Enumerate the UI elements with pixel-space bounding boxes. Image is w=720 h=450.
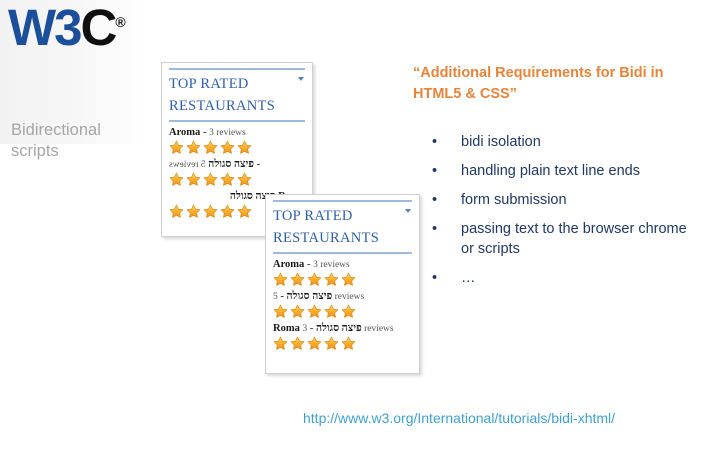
- star-icon: [307, 336, 322, 351]
- star-icon: [273, 304, 288, 319]
- requirements-list: • bidi isolation • handling plain text l…: [428, 133, 703, 298]
- star-icon: [220, 204, 235, 219]
- star-icon: [169, 204, 184, 219]
- star-icon: [220, 140, 235, 155]
- star-rating: [273, 336, 412, 352]
- review-count: 3 reviews: [313, 260, 350, 270]
- star-icon: [290, 304, 305, 319]
- star-icon: [169, 172, 184, 187]
- star-icon: [290, 336, 305, 351]
- star-icon: [186, 204, 201, 219]
- restaurant-card-correct: TOP RATED RESTAURANTS Aroma - 3 reviews …: [265, 194, 420, 374]
- registered-trademark-icon: ®: [115, 14, 125, 30]
- bullet-icon: •: [432, 220, 437, 239]
- list-item-label: form submission: [461, 192, 567, 208]
- list-item: Aroma - 3 reviews: [273, 258, 412, 288]
- card-header: TOP RATED RESTAURANTS: [273, 200, 412, 254]
- w3c-logo: W3C®: [8, 2, 126, 53]
- star-icon: [324, 304, 339, 319]
- restaurant-name: Aroma: [169, 127, 200, 138]
- restaurant-row: פיצה סגולה - 5 reviews: [273, 290, 412, 304]
- page-subtitle: Bidirectional scripts: [11, 120, 146, 162]
- list-item: 5 reviews פיצה סגולה -: [169, 158, 305, 188]
- list-item: • bidi isolation: [428, 133, 703, 152]
- chevron-down-icon[interactable]: [405, 209, 411, 213]
- star-icon: [237, 204, 252, 219]
- list-item: • passing text to the browser chrome or …: [428, 220, 703, 258]
- star-rating: [273, 272, 412, 288]
- logo-text-c: C: [81, 0, 116, 56]
- list-item-label: handling plain text line ends: [461, 163, 640, 179]
- list-item-label: bidi isolation: [461, 134, 541, 150]
- list-item: Aroma - 3 reviews: [169, 126, 305, 156]
- star-rating: [169, 140, 305, 156]
- list-item: • form submission: [428, 191, 703, 210]
- star-icon: [273, 272, 288, 287]
- logo-text-w3: W3: [8, 0, 81, 56]
- bullet-icon: •: [432, 191, 437, 210]
- review-count: 3 reviews: [209, 128, 246, 138]
- separator: -: [257, 159, 261, 170]
- section-heading: “Additional Requirements for Bidi in HTM…: [413, 63, 678, 104]
- star-icon: [186, 172, 201, 187]
- card-title-line1: TOP RATED: [273, 205, 412, 227]
- star-icon: [341, 304, 356, 319]
- star-icon: [220, 172, 235, 187]
- list-item-label: passing text to the browser chrome or sc…: [461, 221, 687, 256]
- restaurant-row: 5 reviews פיצה סגולה -: [169, 158, 305, 172]
- bullet-icon: •: [432, 162, 437, 181]
- list-item: Roma פיצה סגולה - 3 reviews: [273, 322, 412, 352]
- restaurant-name: Roma פיצה סגולה: [273, 323, 362, 334]
- star-rating: [273, 304, 412, 320]
- list-item: • …: [428, 269, 703, 288]
- review-count: 5 reviews: [169, 159, 206, 171]
- restaurant-row: Roma פיצה סגולה - 3 reviews: [273, 322, 412, 336]
- star-icon: [324, 336, 339, 351]
- list-item: פיצה סגולה - 5 reviews: [273, 290, 412, 320]
- restaurant-row: Aroma - 3 reviews: [169, 126, 305, 140]
- separator: -: [310, 323, 314, 334]
- restaurant-name: פיצה סגולה: [208, 159, 254, 170]
- star-icon: [307, 304, 322, 319]
- star-icon: [324, 272, 339, 287]
- star-rating: [169, 172, 305, 188]
- star-icon: [237, 172, 252, 187]
- star-icon: [307, 272, 322, 287]
- separator: -: [280, 291, 284, 302]
- tutorial-link[interactable]: http://www.w3.org/International/tutorial…: [303, 410, 615, 426]
- restaurant-name: Aroma: [273, 259, 304, 270]
- star-icon: [169, 140, 184, 155]
- card-title-line2: RESTAURANTS: [273, 227, 412, 249]
- bullet-icon: •: [432, 269, 437, 288]
- separator: -: [307, 259, 311, 270]
- card-title-line2: RESTAURANTS: [169, 95, 305, 117]
- bullet-icon: •: [432, 133, 437, 152]
- chevron-down-icon[interactable]: [298, 77, 304, 81]
- star-icon: [203, 204, 218, 219]
- star-icon: [203, 172, 218, 187]
- list-item-label: …: [461, 270, 476, 286]
- star-icon: [341, 336, 356, 351]
- star-icon: [290, 272, 305, 287]
- star-icon: [341, 272, 356, 287]
- restaurant-row: Aroma - 3 reviews: [273, 258, 412, 272]
- star-icon: [273, 336, 288, 351]
- list-item: • handling plain text line ends: [428, 162, 703, 181]
- star-icon: [237, 140, 252, 155]
- separator: -: [203, 127, 207, 138]
- card-header: TOP RATED RESTAURANTS: [169, 68, 305, 122]
- restaurant-name: פיצה סגולה: [287, 291, 333, 302]
- star-icon: [186, 140, 201, 155]
- card-title-line1: TOP RATED: [169, 73, 305, 95]
- star-icon: [203, 140, 218, 155]
